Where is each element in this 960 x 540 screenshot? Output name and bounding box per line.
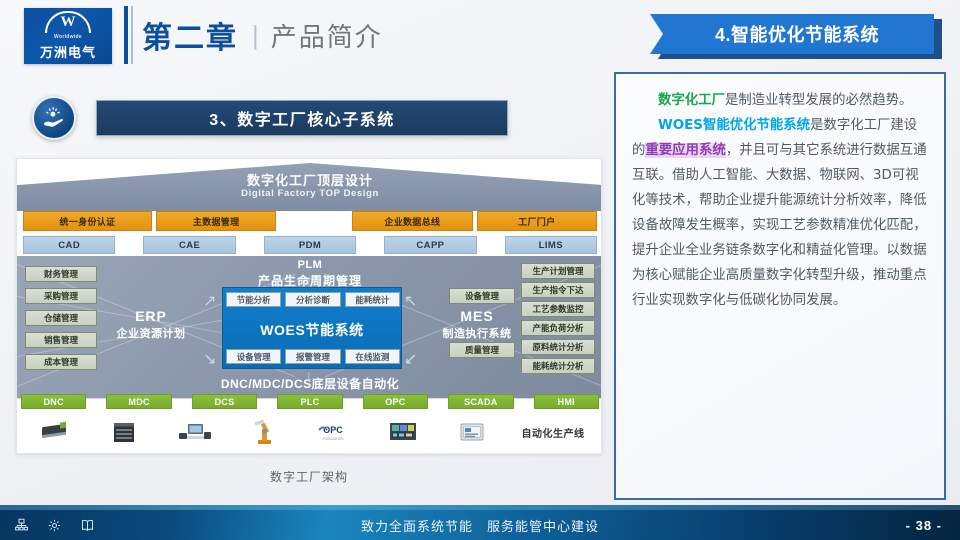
woes-bottom-functions: 设备管理 报警管理 在线监测 [226,349,400,364]
arrow-icon: ↖ [404,294,417,310]
footer-slogan: 致力全面系统节能 服务能管中心建设 [0,516,960,535]
diagram-core-zone: PLM 产品生命周期管理 DNC/MDC/DCS底层设备自动化 财务管理 采购管… [17,256,602,398]
tool-box: LIMS [505,236,597,254]
erp-abbr: ERP [105,308,197,324]
woes-function: 报警管理 [285,349,340,364]
topic-banner: 4.智能优化节能系统 [650,14,942,56]
mes-module: 原料统计分析 [521,339,595,355]
mes-module: 生产计划管理 [521,263,595,279]
tool-box: CAE [143,236,235,254]
erp-module: 采购管理 [25,288,97,304]
tool-box: PDM [264,236,356,254]
paragraph-1: 数字化工厂是制造业转型发展的必然趋势。 [632,88,928,113]
industrial-robot-icon [229,413,298,451]
mes-inner-module: 设备管理 [449,288,515,304]
scada-control-room-icon [368,413,437,451]
platform-services-row: 统一身份认证 主数据管理 企业数据总线 工厂门户 [17,211,602,231]
highlight-woes-system: WOES智能优化节能系统 [658,118,810,133]
platform-box: 工厂门户 [477,211,597,231]
automation-label: PLC [277,394,342,409]
woes-title: WOES节能系统 [223,320,401,340]
mes-inner-module: 质量管理 [449,342,515,358]
erp-label: ERP 企业资源计划 [105,308,197,341]
section-title: 3、数字工厂核心子系统 [96,100,508,136]
automation-label: OPC [363,394,428,409]
erp-module: 成本管理 [25,354,97,370]
diagram-roof: 数字化工厂顶层设计 Digital Factory TOP Design [17,159,602,211]
header-divider [124,6,128,64]
platform-box: 统一身份认证 [23,211,152,231]
roof-title-cn: 数字化工厂顶层设计 [17,170,602,189]
arrow-icon: ↗ [203,294,216,310]
server-cabinet-icon [90,413,159,451]
platform-box: 企业数据总线 [352,211,472,231]
chapter-number: 第二章 [142,13,238,57]
logo-brand-cn: 万洲电气 [40,42,96,61]
roof-title-en: Digital Factory TOP Design [17,188,602,199]
woes-function: 能耗统计 [345,292,400,307]
automation-label: HMI [534,394,599,409]
hand-icon-glyph [41,105,67,131]
erp-name: 企业资源计划 [105,325,197,341]
platform-box: 主数据管理 [156,211,276,231]
mes-module: 产能负荷分析 [521,320,595,336]
hand-holding-idea-icon [32,96,76,140]
dcs-workstation-icon [160,413,229,451]
automation-line-label: 自动化生产线 [507,413,599,451]
automation-label: MDC [106,394,171,409]
digital-factory-architecture-diagram: 数字化工厂顶层设计 Digital Factory TOP Design 统一身… [16,158,602,454]
woes-top-functions: 节能分析 分析诊断 能耗统计 [226,292,400,307]
company-logo: W Worldwide 万洲电气 [24,8,112,64]
chapter-subtitle: 产品简介 [271,17,383,54]
arrow-icon: ↓ [305,369,313,385]
erp-module: 仓储管理 [25,310,97,326]
breadcrumb: 第二章 | 产品简介 [142,12,383,58]
mes-module: 生产指令下达 [521,282,595,298]
arrow-icon: ↑ [305,274,313,290]
logo-brand-en: Worldwide [54,34,82,40]
erp-module: 销售管理 [25,332,97,348]
header-divider-thin [131,6,133,64]
woes-function: 设备管理 [226,349,281,364]
slide-canvas: W Worldwide 万洲电气 第二章 | 产品简介 4.智能优化节能系统 3… [0,0,960,540]
tool-box: CAPP [384,236,476,254]
footer-bar: 致力全面系统节能 服务能管中心建设 - 38 - [0,510,960,540]
platform-box-spacer [280,211,348,231]
page-number: - 38 - [906,518,942,533]
paragraph-2: WOES智能优化节能系统是数字化工厂建设的重要应用系统，并且可与其它系统进行数据… [632,113,928,313]
design-tools-row: CAD CAE PDM CAPP LIMS [17,236,602,254]
automation-label: DCS [192,394,257,409]
automation-label-row: DNC MDC DCS PLC OPC SCADA HMI [21,394,599,409]
controller-device-icon [21,413,90,451]
tool-box: CAD [23,236,115,254]
erp-module: 财务管理 [25,266,97,282]
woes-function: 节能分析 [226,292,281,307]
erp-module-list: 财务管理 采购管理 仓储管理 销售管理 成本管理 [25,266,97,370]
description-panel: 数字化工厂是制造业转型发展的必然趋势。 WOES智能优化节能系统是数字化工厂建设… [614,72,946,500]
mes-module: 能耗统计分析 [521,358,595,374]
automation-label: DNC [21,394,86,409]
mes-inner-module-list: 设备管理 质量管理 [449,288,515,358]
mes-module-list: 生产计划管理 生产指令下达 工艺参数监控 产能负荷分析 原料统计分析 能耗统计分… [521,263,595,374]
chapter-separator: | [252,20,259,51]
topic-banner-body: 4.智能优化节能系统 [650,14,934,54]
svg-text:FOUNDATION: FOUNDATION [323,437,345,441]
automation-device-row: OPCFOUNDATION 自动化生产线 [21,413,599,451]
diagram-caption: 数字工厂架构 [16,468,602,485]
highlight-digital-factory: 数字化工厂 [658,93,725,108]
arrow-icon: ↙ [404,352,417,368]
hmi-panel-icon [438,413,507,451]
arrow-icon: ↘ [203,352,216,368]
woes-function: 分析诊断 [285,292,340,307]
section-title-label: 3、数字工厂核心子系统 [209,106,394,130]
paragraph-1-text: 是制造业转型发展的必然趋势。 [725,93,912,108]
logo-emblem-icon: W [45,11,91,33]
woes-core-system: 节能分析 分析诊断 能耗统计 WOES节能系统 设备管理 报警管理 在线监测 [222,287,402,369]
logo-letter: W [45,13,91,31]
automation-label: SCADA [448,394,513,409]
highlight-key-application: 重要应用系统 [645,143,725,158]
mes-module: 工艺参数监控 [521,301,595,317]
automation-layer: DNC MDC DCS PLC OPC SCADA HMI [17,398,602,454]
woes-function: 在线监测 [345,349,400,364]
paragraph-2-text-b: ，并且可与其它系统进行数据互通互联。借助人工智能、大数据、物联网、3D可视化等技… [632,143,927,308]
topic-banner-label: 4.智能优化节能系统 [705,21,879,47]
opc-logo-icon: OPCFOUNDATION [299,413,368,451]
plm-abbr: PLM [17,259,602,271]
